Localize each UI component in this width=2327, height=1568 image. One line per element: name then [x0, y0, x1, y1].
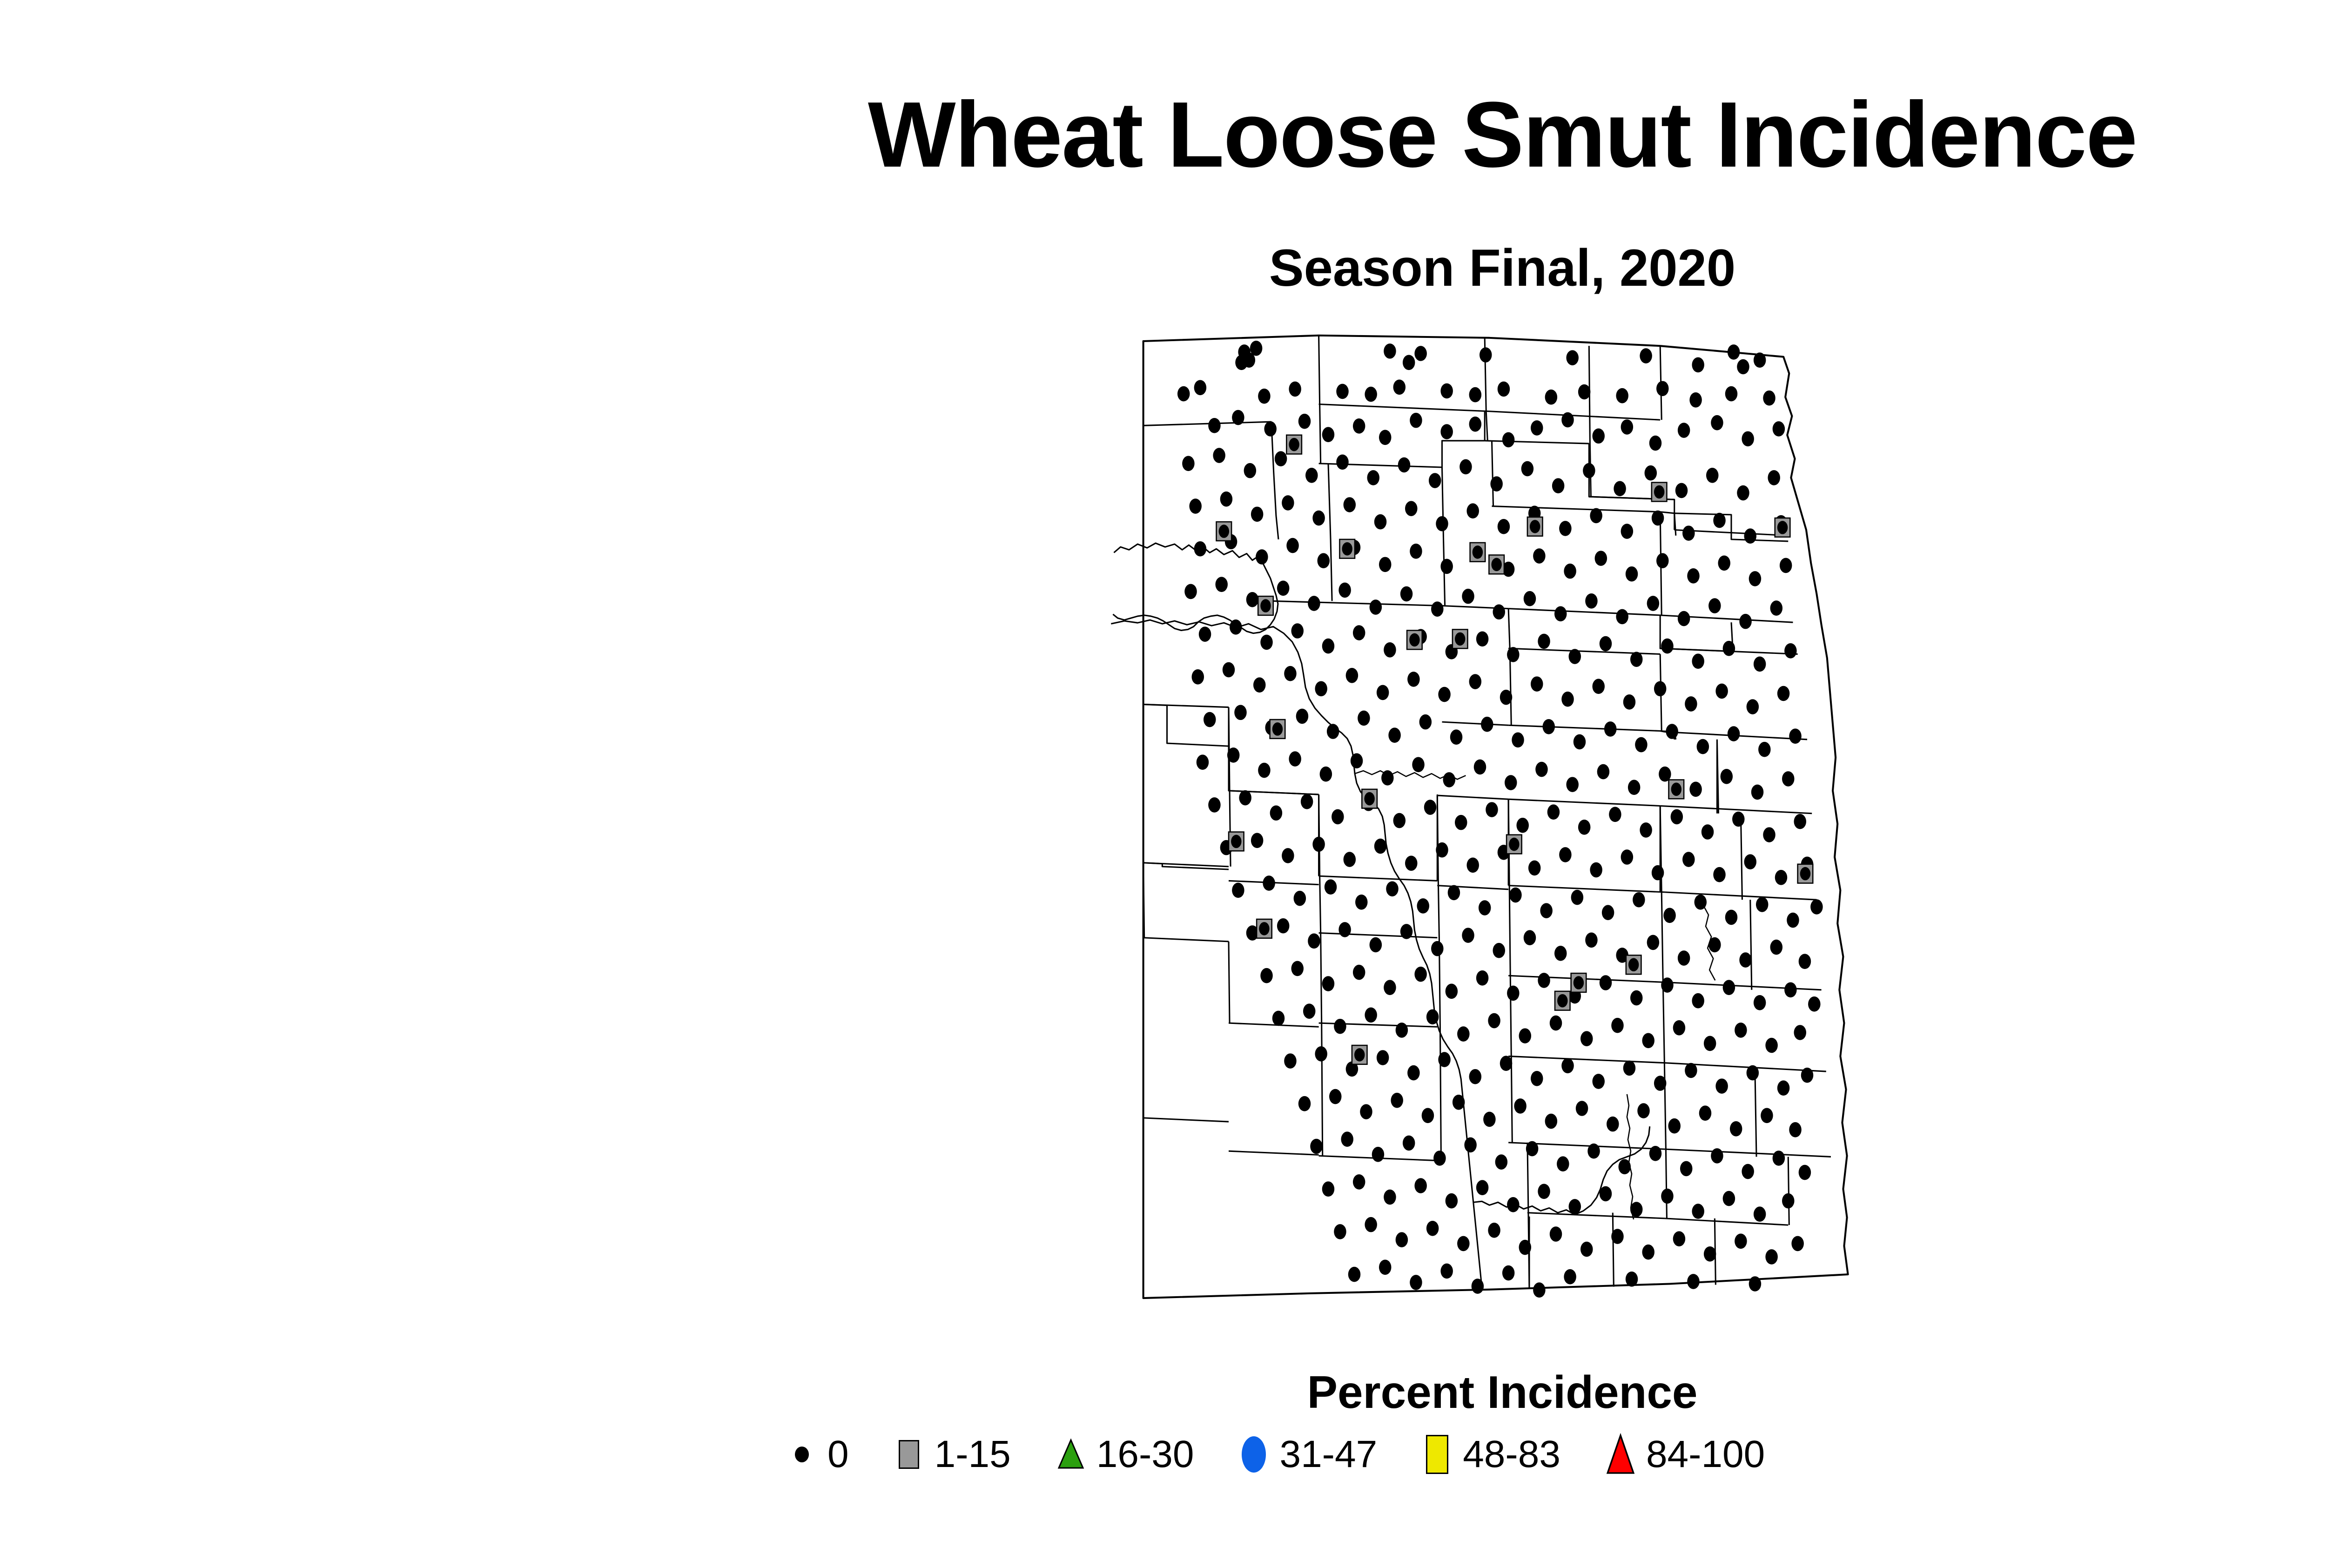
map-point-zero	[1480, 347, 1492, 363]
map-point-zero	[1595, 551, 1607, 566]
map-point-zero	[1493, 943, 1505, 958]
map-point-zero	[1626, 1272, 1638, 1287]
map-point-zero	[1379, 1260, 1391, 1275]
map-point-zero	[1310, 1139, 1322, 1154]
map-point-zero	[1336, 384, 1348, 399]
map-point-zero	[1715, 684, 1728, 699]
map-point-zero	[1787, 913, 1799, 928]
map-point-zero	[1652, 865, 1664, 881]
map-point-zero	[1197, 754, 1209, 770]
map-point-zero	[1559, 847, 1571, 862]
map-point-zero	[1616, 388, 1628, 404]
map-point-zero	[1258, 389, 1270, 404]
map-point-zero	[1301, 794, 1313, 809]
map-point-zero	[1384, 980, 1396, 995]
map-point-zero	[1654, 1076, 1666, 1091]
map-point-zero	[1728, 344, 1740, 360]
map-point-zero	[1545, 390, 1557, 405]
legend-item-0[interactable]: 0	[787, 1433, 849, 1476]
map-point-zero	[1400, 924, 1412, 939]
map-point-zero	[1325, 879, 1337, 895]
legend-label-16-30: 16-30	[1096, 1433, 1194, 1476]
map-point-zero	[1410, 544, 1422, 559]
map-point-zero	[1557, 994, 1567, 1008]
map-point-zero	[1374, 839, 1386, 854]
map-point-zero	[1533, 548, 1545, 564]
map-point-zero	[1419, 714, 1432, 730]
map-point-zero	[1649, 1146, 1661, 1161]
legend-item-16-30[interactable]: 16-30	[1056, 1433, 1194, 1476]
map-point-zero	[1789, 1122, 1801, 1137]
map-point-zero	[1346, 668, 1358, 683]
map-point-zero	[1519, 1028, 1531, 1043]
map-point-zero	[1282, 495, 1294, 511]
map-point-zero	[1405, 501, 1417, 516]
map-point-zero	[1630, 1202, 1642, 1217]
map-point-zero	[1474, 760, 1486, 775]
map-point-zero	[1412, 757, 1424, 773]
map-point-zero	[1398, 458, 1410, 473]
map-point-zero	[1336, 454, 1348, 470]
map-point-zero	[1533, 1282, 1545, 1298]
map-point-zero	[1566, 350, 1578, 365]
map-point-zero	[1661, 1189, 1673, 1204]
map-point-zero	[1502, 432, 1514, 448]
map-point-zero	[1486, 802, 1498, 817]
map-point-zero	[1289, 382, 1301, 397]
map-point-zero	[1561, 1058, 1574, 1074]
map-point-zero	[1322, 1181, 1334, 1197]
map-point-zero	[1493, 604, 1505, 619]
map-point-zero	[1410, 1275, 1422, 1290]
map-point-zero	[1407, 672, 1419, 687]
legend-label-0: 0	[827, 1433, 849, 1476]
map-point-zero	[1697, 739, 1709, 754]
map-point-zero	[1344, 852, 1356, 867]
map-point-zero	[1751, 785, 1763, 800]
map-point-zero	[1377, 685, 1389, 700]
map-point-zero	[1232, 883, 1244, 898]
map-point-zero	[1365, 1217, 1377, 1232]
map-point-zero	[1353, 965, 1365, 980]
map-point-zero	[1708, 598, 1721, 613]
map-point-zero	[1564, 564, 1576, 579]
map-point-zero	[1459, 459, 1472, 475]
map-point-zero	[1469, 387, 1481, 403]
map-point-zero	[1583, 463, 1595, 478]
map-point-zero	[1621, 849, 1633, 865]
map-point-zero	[1678, 423, 1690, 438]
map-point-zero	[1561, 692, 1574, 707]
map-point-zero	[1739, 614, 1751, 629]
map-point-zero	[1235, 355, 1247, 370]
map-point-zero	[1799, 1165, 1811, 1180]
map-point-zero	[1554, 946, 1567, 961]
map-point-zero	[1626, 566, 1638, 582]
map-point-zero	[1763, 390, 1775, 406]
map-point-zero	[1516, 818, 1528, 833]
map-point-zero	[1284, 1053, 1296, 1069]
map-point-zero	[1524, 591, 1536, 606]
map-point-zero	[1509, 838, 1519, 851]
map-point-zero	[1260, 635, 1272, 650]
map-point-zero	[1773, 421, 1785, 437]
map-point-zero	[1374, 514, 1386, 530]
map-point-zero	[1476, 970, 1488, 986]
map-point-zero	[1801, 1068, 1813, 1083]
map-point-zero	[1384, 1190, 1396, 1205]
map-point-zero	[1682, 525, 1695, 541]
map-point-zero	[1436, 516, 1448, 532]
map-point-zero	[1744, 528, 1756, 544]
map-point-zero	[1370, 937, 1382, 953]
map-point-zero	[1438, 687, 1450, 702]
map-point-zero	[1545, 1114, 1557, 1129]
map-point-zero	[1685, 696, 1697, 712]
map-point-zero	[1305, 468, 1318, 483]
map-point-zero	[1322, 976, 1334, 991]
map-point-zero	[1367, 470, 1379, 485]
map-point-zero	[1725, 386, 1737, 402]
legend-symbol-green-triangle-icon	[1056, 1439, 1086, 1470]
map-point-zero	[1318, 553, 1330, 568]
map-point-zero	[1730, 1121, 1742, 1137]
map-point-zero	[1630, 652, 1642, 667]
legend-item-31-47[interactable]: 31-47	[1238, 1433, 1377, 1476]
map-point-zero	[1227, 747, 1239, 763]
map-point-zero	[1388, 727, 1400, 743]
map-point-zero	[1192, 669, 1204, 685]
map-point-zero	[1780, 558, 1792, 573]
figure-root: Wheat Loose Smut Incidence Season Final,…	[0, 0, 2327, 1568]
map-point-zero	[1569, 1199, 1581, 1214]
map-point-zero	[1282, 848, 1294, 863]
map-point-zero	[1678, 950, 1690, 966]
map-point-zero	[1264, 421, 1276, 437]
map-point-zero	[1466, 858, 1479, 873]
map-point-zero	[1642, 1245, 1654, 1260]
map-point-zero	[1253, 677, 1265, 693]
map-point-zero	[1490, 476, 1502, 491]
map-point-zero	[1768, 470, 1780, 485]
map-point-zero	[1590, 508, 1602, 524]
map-point-zero	[1263, 875, 1275, 891]
map-point-zero	[1561, 412, 1574, 428]
map-point-zero	[1410, 413, 1422, 428]
map-point-zero	[1656, 381, 1668, 397]
map-point-zero	[1270, 805, 1282, 821]
map-point-zero	[1365, 387, 1377, 402]
map-point-zero	[1689, 782, 1702, 797]
map-point-zero	[1481, 717, 1493, 732]
map-point-zero	[1744, 854, 1756, 869]
map-point-zero	[1502, 1265, 1514, 1281]
map-point-zero	[1718, 556, 1730, 571]
map-point-zero	[1355, 895, 1367, 910]
map-point-zero	[1353, 418, 1365, 434]
map-point-zero	[1251, 833, 1263, 848]
map-point-zero	[1354, 1048, 1365, 1062]
map-point-zero	[1400, 586, 1412, 602]
map-point-zero	[1476, 1180, 1488, 1195]
map-point-zero	[1569, 649, 1581, 664]
map-point-zero	[1272, 1011, 1285, 1026]
map-point-zero	[1507, 1197, 1519, 1212]
map-point-zero	[1692, 1204, 1704, 1219]
map-point-zero	[1455, 633, 1465, 646]
map-point-zero	[1446, 1193, 1458, 1209]
map-point-zero	[1695, 895, 1707, 910]
map-point-zero	[1308, 934, 1320, 949]
map-point-zero	[1621, 524, 1633, 539]
map-point-zero	[1322, 427, 1334, 442]
map-point-zero	[1275, 451, 1287, 466]
map-point-zero	[1706, 468, 1718, 483]
map-point-zero	[1364, 792, 1374, 806]
map-point-zero	[1592, 1074, 1604, 1089]
map-point-zero	[1784, 982, 1796, 997]
map-point-zero	[1770, 600, 1782, 616]
map-point-zero	[1194, 541, 1206, 557]
map-point-zero	[1702, 824, 1714, 840]
page-subtitle: Season Final, 2020	[0, 242, 2327, 294]
map-point-zero	[1260, 968, 1272, 983]
legend-title: Percent Incidence	[0, 1366, 2327, 1419]
map-point-zero	[1291, 623, 1303, 639]
map-point-zero	[1630, 990, 1642, 1006]
map-point-zero	[1654, 681, 1666, 697]
map-point-zero	[1732, 812, 1744, 827]
map-point-zero	[1334, 1019, 1346, 1034]
map-point-zero	[1208, 797, 1220, 813]
map-point-zero	[1656, 553, 1668, 568]
map-point-zero	[1453, 1095, 1465, 1110]
map-point-zero	[1348, 1267, 1360, 1282]
map-point-zero	[1557, 1156, 1569, 1171]
map-point-zero	[1381, 770, 1393, 786]
map-point-zero	[1607, 1117, 1619, 1132]
map-point-zero	[1640, 348, 1652, 363]
map-point-zero	[1682, 852, 1695, 867]
map-point-zero	[1723, 641, 1735, 656]
map-point-zero	[1800, 867, 1810, 881]
map-point-zero	[1600, 1186, 1612, 1202]
map-point-zero	[1635, 737, 1647, 753]
map-point-zero	[1687, 1274, 1699, 1289]
legend-label-31-47: 31-47	[1279, 1433, 1377, 1476]
map-point-zero	[1600, 636, 1612, 652]
map-point-zero	[1379, 557, 1391, 572]
map-point-zero	[1393, 813, 1406, 828]
map-point-zero	[1469, 674, 1481, 689]
legend-symbol-red-triangle-icon	[1605, 1439, 1636, 1470]
map-point-zero	[1554, 606, 1567, 622]
map-point-zero	[1239, 790, 1251, 806]
map-point-zero	[1438, 1052, 1450, 1067]
map-point-zero	[1531, 676, 1543, 692]
map-point-zero	[1725, 910, 1737, 925]
map-point-zero	[1386, 881, 1398, 896]
map-point-zero	[1739, 952, 1751, 968]
map-point-zero	[1580, 1031, 1593, 1046]
map-point-zero	[1298, 1096, 1311, 1111]
map-point-zero	[1393, 380, 1406, 395]
legend-symbol-circle-small-icon	[787, 1439, 817, 1470]
map-point-zero	[1777, 686, 1789, 701]
map-point-zero	[1654, 485, 1664, 499]
map-point-zero	[1440, 424, 1453, 439]
map-point-zero	[1675, 483, 1688, 498]
map-point-zero	[1810, 899, 1823, 915]
map-point-zero	[1708, 937, 1721, 953]
map-point-zero	[1671, 783, 1681, 796]
map-point-zero	[1728, 726, 1740, 741]
map-point-zero	[1704, 1036, 1716, 1051]
map-point-zero	[1585, 933, 1597, 948]
map-point-zero	[1685, 1063, 1697, 1078]
map-point-zero	[1473, 545, 1483, 559]
map-point-zero	[1342, 542, 1352, 556]
map-point-zero	[1754, 995, 1766, 1010]
legend: 0 1-15 16-30 31-47 48-83	[787, 1424, 2090, 1485]
map-point-zero	[1455, 815, 1467, 830]
map-point-zero	[1450, 729, 1462, 745]
map-point-zero	[1749, 571, 1761, 586]
map-point-zero	[1277, 918, 1289, 934]
map-point-zero	[1550, 1226, 1562, 1242]
map-point-zero	[1692, 993, 1704, 1009]
map-point-zero	[1488, 1013, 1500, 1029]
map-point-zero	[1220, 491, 1232, 507]
map-point-zero	[1320, 767, 1332, 782]
map-point-zero	[1338, 922, 1351, 937]
map-point-zero	[1436, 842, 1448, 858]
map-point-zero	[1763, 827, 1775, 842]
map-point-zero	[1391, 1093, 1403, 1108]
map-point-zero	[1794, 1025, 1806, 1040]
map-point-zero	[1315, 681, 1327, 697]
legend-symbol-blue-circle-icon	[1238, 1439, 1269, 1470]
page-title: Wheat Loose Smut Incidence	[0, 88, 2327, 182]
map-point-zero	[1469, 417, 1481, 432]
map-point-zero	[1566, 777, 1578, 792]
map-point-zero	[1597, 764, 1609, 780]
map-point-zero	[1649, 436, 1661, 451]
map-point-zero	[1791, 1236, 1803, 1252]
map-point-zero	[1260, 599, 1271, 612]
map-point-zero	[1403, 355, 1415, 370]
map-point-zero	[1414, 967, 1426, 982]
map-point-zero	[1440, 1264, 1453, 1279]
map-point-zero	[1578, 820, 1590, 835]
map-point-zero	[1645, 465, 1657, 481]
map-point-zero	[1637, 1103, 1649, 1118]
map-point-zero	[1689, 392, 1702, 408]
map-point-zero	[1440, 559, 1453, 574]
map-point-zero	[1782, 1193, 1794, 1209]
map-point-zero	[1628, 958, 1639, 972]
legend-item-1-15[interactable]: 1-15	[894, 1433, 1011, 1476]
map-point-zero	[1619, 1159, 1631, 1175]
map-point-zero	[1479, 900, 1491, 915]
map-point-zero	[1396, 1023, 1408, 1038]
map-point-zero	[1747, 1065, 1759, 1081]
map-point-zero	[1215, 577, 1227, 592]
map-point-zero	[1231, 835, 1241, 848]
map-point-zero	[1742, 431, 1754, 447]
map-point-zero	[1754, 657, 1766, 672]
map-point-zero	[1498, 382, 1510, 397]
map-point-zero	[1735, 1023, 1747, 1038]
map-point-zero	[1251, 507, 1263, 522]
map-point-zero	[1303, 1003, 1315, 1019]
map-point-zero	[1633, 892, 1645, 908]
map-svg	[652, 316, 2308, 1322]
map-point-zero	[1308, 596, 1320, 611]
map-point-zero	[1277, 581, 1289, 596]
map-point-zero	[1530, 520, 1540, 533]
map-point-zero	[1414, 1178, 1426, 1193]
map-point-zero	[1715, 1078, 1728, 1094]
map-point-zero	[1246, 592, 1258, 607]
map-point-zero	[1666, 724, 1678, 739]
map-point-zero	[1526, 1141, 1538, 1157]
map-point-zero	[1704, 1246, 1716, 1262]
map-point-zero	[1754, 352, 1766, 368]
map-point-zero	[1652, 511, 1664, 526]
map-point-zero	[1773, 1151, 1785, 1166]
map-point-zero	[1284, 666, 1296, 681]
map-point-zero	[1422, 1108, 1434, 1123]
map-point-zero	[1576, 1101, 1588, 1116]
map-point-zero	[1758, 742, 1770, 757]
map-point-zero	[1647, 935, 1659, 950]
map-point-zero	[1219, 525, 1229, 538]
map-point-zero	[1578, 384, 1590, 400]
map-point-zero	[1550, 1016, 1562, 1031]
map-point-zero	[1742, 1164, 1754, 1179]
map-point-zero	[1775, 870, 1787, 885]
legend-label-1-15: 1-15	[935, 1433, 1011, 1476]
map-point-zero	[1409, 633, 1419, 647]
map-point-zero	[1514, 1098, 1526, 1114]
map-point-zero	[1256, 549, 1268, 565]
legend-label-84-100: 84-100	[1646, 1433, 1765, 1476]
map-point-zero	[1574, 734, 1586, 750]
map-point-zero	[1414, 346, 1426, 361]
map-point-zero	[1614, 481, 1626, 497]
map-point-zero	[1647, 596, 1659, 611]
map-point-zero	[1322, 639, 1334, 654]
map-point-zero	[1344, 497, 1356, 512]
legend-item-84-100[interactable]: 84-100	[1605, 1433, 1765, 1476]
map-point-zero	[1616, 609, 1628, 625]
legend-item-48-83[interactable]: 48-83	[1422, 1433, 1560, 1476]
map-point-zero	[1379, 430, 1391, 445]
map-point-zero	[1528, 861, 1540, 876]
map-point-zero	[1464, 1137, 1476, 1153]
map-point-zero	[1692, 357, 1704, 373]
map-point-zero	[1370, 599, 1382, 615]
map-point-zero	[1687, 568, 1699, 584]
map-point-zero	[1611, 1229, 1623, 1244]
map-point-zero	[1495, 1154, 1507, 1170]
map-point-zero	[1571, 890, 1583, 905]
map-point-zero	[1564, 1269, 1576, 1285]
map-point-zero	[1426, 1009, 1439, 1025]
map-point-zero	[1585, 593, 1597, 609]
map-point-zero	[1808, 996, 1820, 1012]
